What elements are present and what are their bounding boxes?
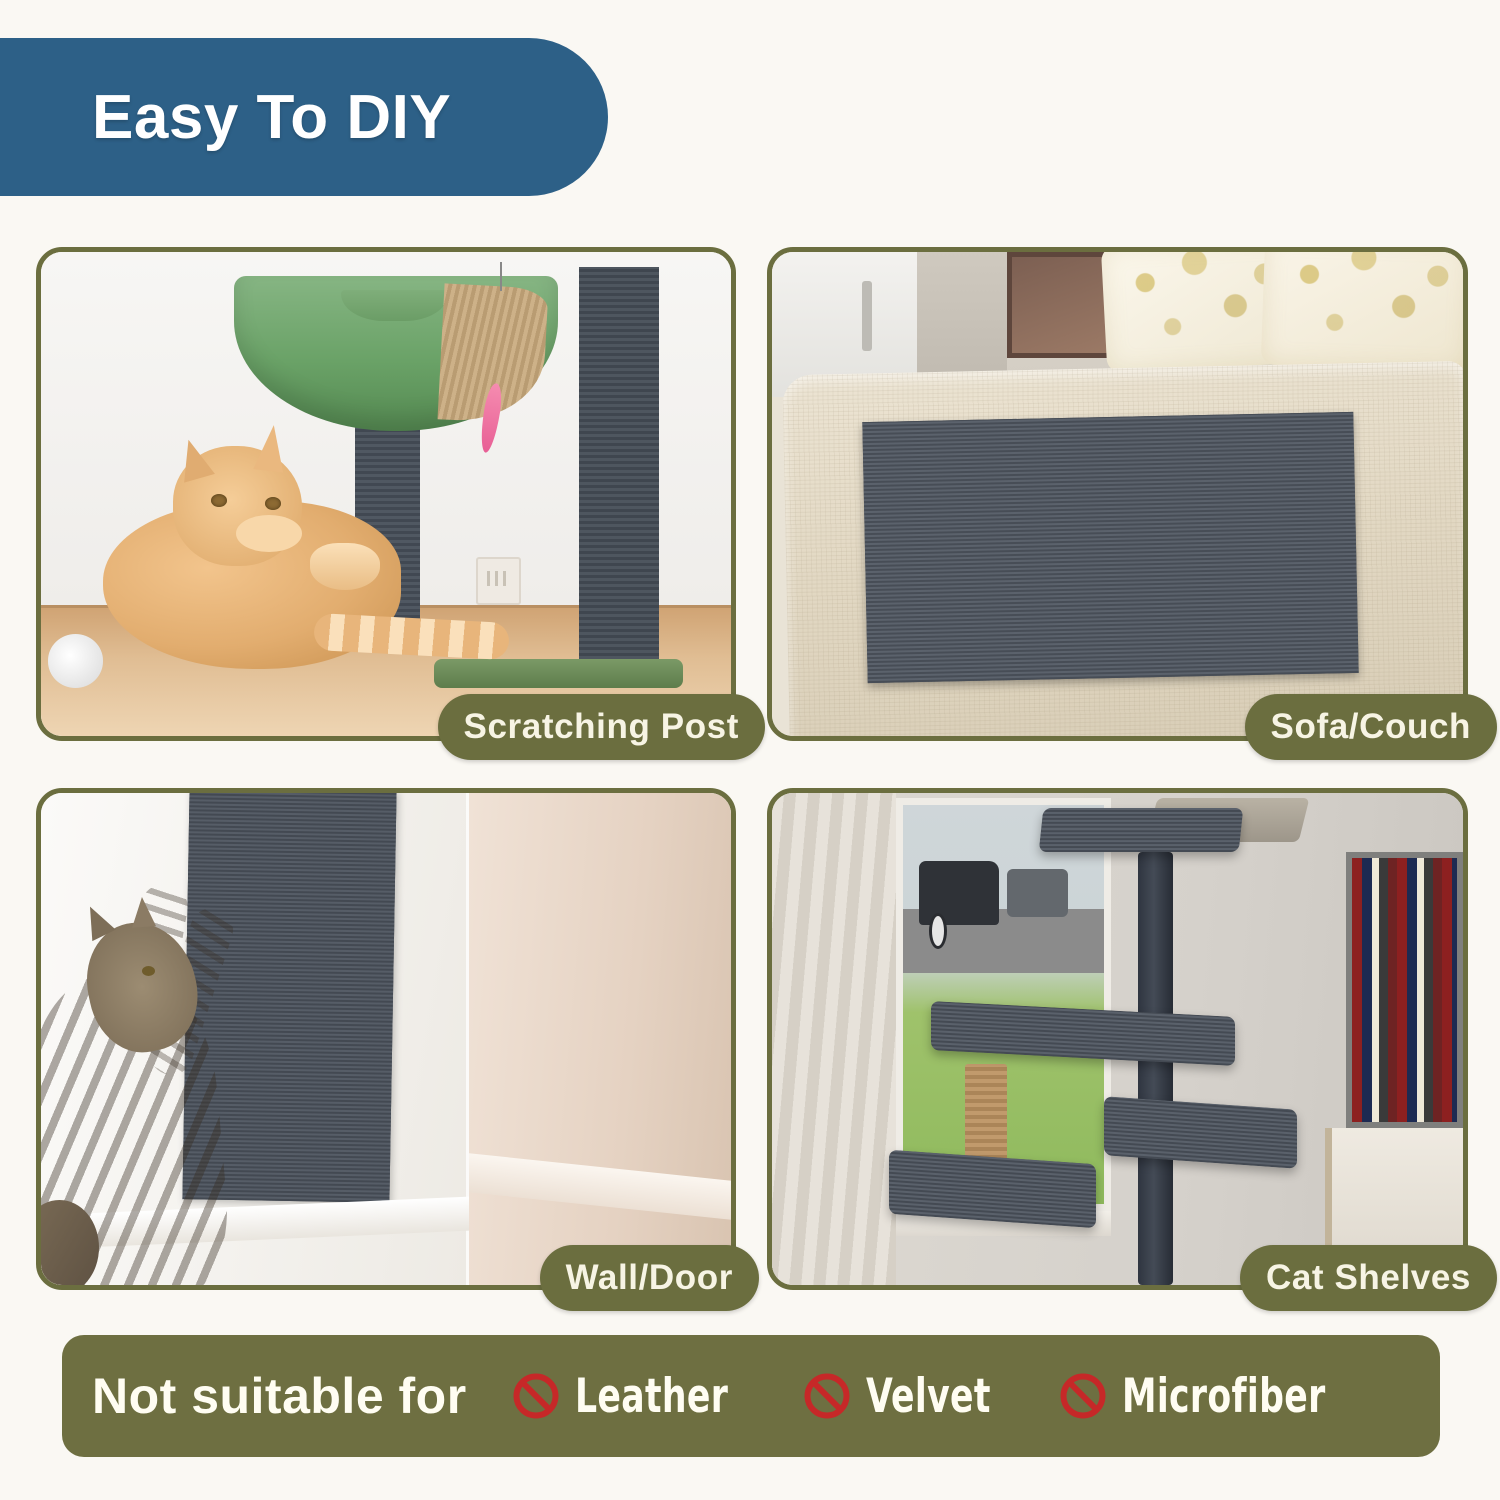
prohibited-icon bbox=[802, 1371, 852, 1421]
infographic-page: Easy To DIY bbox=[0, 0, 1500, 1500]
panel-wall-door: Wall/Door bbox=[36, 788, 736, 1290]
photo-scratching-post bbox=[41, 252, 731, 736]
panel-label-cat-shelves: Cat Shelves bbox=[1240, 1245, 1497, 1311]
not-suitable-banner: Not suitable for Leather Velvet Microfib… bbox=[62, 1335, 1440, 1457]
books bbox=[1352, 858, 1457, 1122]
floral-pillow-right bbox=[1260, 252, 1463, 372]
not-suitable-item-microfiber: Microfiber bbox=[1058, 1369, 1370, 1424]
tabby-cat bbox=[41, 862, 393, 1285]
use-case-grid: Scratching Post Sofa/Couch bbox=[36, 247, 1468, 1290]
photo-sofa-couch bbox=[772, 252, 1463, 736]
not-suitable-lead-text: Not suitable for bbox=[92, 1367, 467, 1425]
photo-wall-door bbox=[41, 793, 731, 1285]
not-suitable-item-leather: Leather bbox=[511, 1369, 762, 1424]
toy-mouse bbox=[48, 634, 103, 687]
not-suitable-label-leather: Leather bbox=[575, 1369, 728, 1424]
bookshelf bbox=[1346, 852, 1463, 1128]
cat-shelf-top bbox=[1039, 808, 1244, 852]
panel-scratching-post: Scratching Post bbox=[36, 247, 736, 741]
floral-pattern bbox=[1260, 252, 1463, 372]
panel-label-scratching-post: Scratching Post bbox=[438, 694, 765, 760]
curtain bbox=[772, 793, 896, 1285]
not-suitable-label-microfiber: Microfiber bbox=[1122, 1369, 1326, 1424]
cat-tree-pole bbox=[1138, 852, 1173, 1285]
scratching-post-right bbox=[579, 267, 658, 669]
page-title: Easy To DIY bbox=[92, 82, 451, 153]
prohibited-icon bbox=[1058, 1371, 1108, 1421]
panel-label-sofa-couch: Sofa/Couch bbox=[1245, 694, 1497, 760]
prohibited-icon bbox=[511, 1371, 561, 1421]
cat-ear-right bbox=[130, 896, 156, 928]
scratching-mat-on-sofa bbox=[863, 411, 1359, 683]
cat-eye-right bbox=[265, 497, 281, 510]
photo-cat-shelves bbox=[772, 793, 1463, 1285]
not-suitable-item-velvet: Velvet bbox=[802, 1369, 1018, 1424]
toy-string bbox=[500, 262, 502, 291]
panel-label-wall-door: Wall/Door bbox=[540, 1245, 759, 1311]
parked-car bbox=[919, 861, 999, 925]
header-ribbon: Easy To DIY bbox=[0, 38, 608, 196]
cat-eye bbox=[142, 966, 155, 976]
panel-cat-shelves: Cat Shelves bbox=[767, 788, 1468, 1290]
second-car bbox=[1007, 869, 1067, 917]
not-suitable-label-velvet: Velvet bbox=[866, 1369, 991, 1424]
cat-paw bbox=[310, 543, 380, 589]
orange-cat bbox=[82, 446, 496, 678]
panel-sofa-couch: Sofa/Couch bbox=[767, 247, 1468, 741]
hammock-cushion bbox=[341, 290, 448, 321]
cat-ear-right bbox=[254, 423, 289, 472]
